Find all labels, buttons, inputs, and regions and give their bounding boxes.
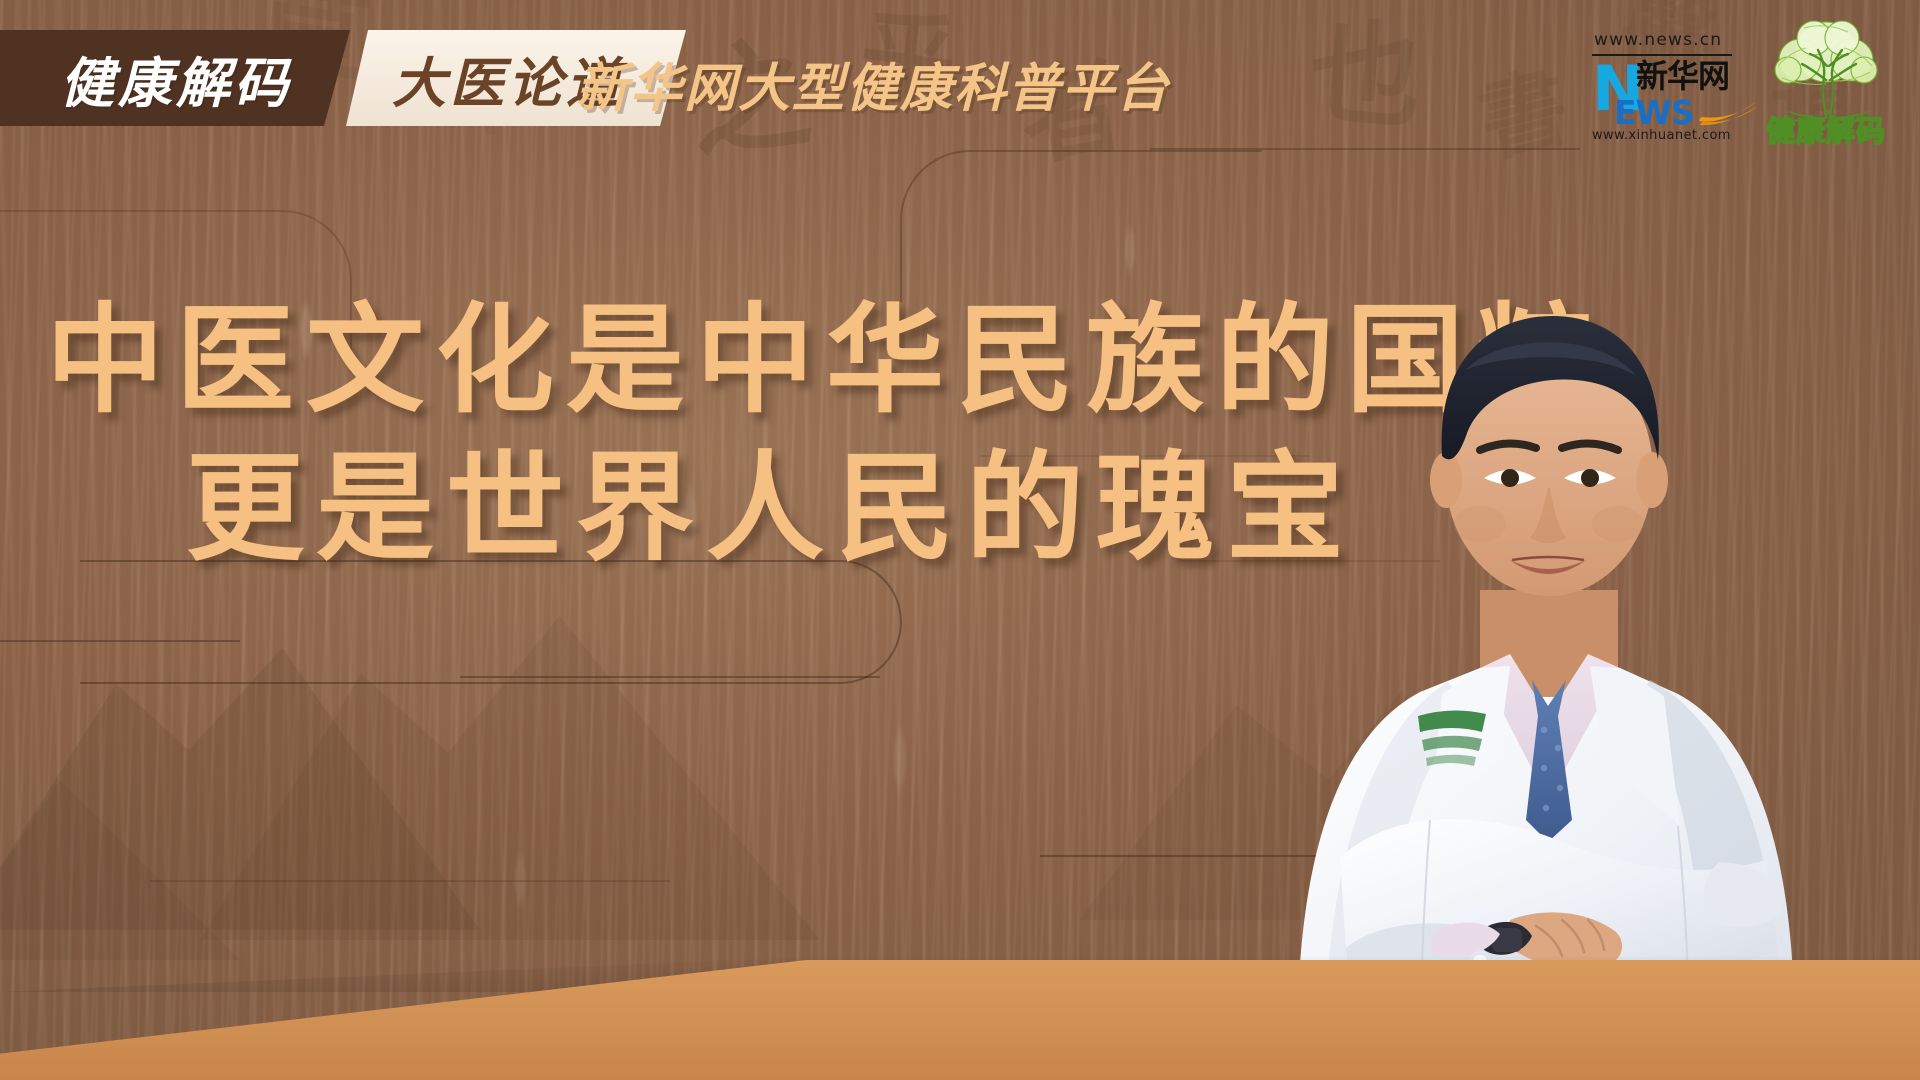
main-title: 中医文化是中华民族的国粹 更是世界人民的瑰宝 [0,286,1180,582]
title-line-2: 更是世界人民的瑰宝 [0,434,1180,582]
xinhua-url-top: www.news.cn [1594,30,1722,50]
xinhua-name-cn: 新华网 [1636,60,1729,92]
program-tagline: 新华网大型健康科普平台 [576,46,1170,121]
brand-primary-tag: 健康解码 [0,30,350,126]
decorative-line [460,676,880,678]
doctor-portrait [1180,120,1920,1080]
title-card: 之 乎 者 也 書 醫 道 草 本 健康解码 大医论道 新华网大型健康科普平台 … [0,0,1920,1080]
brand-primary-label: 健康解码 [60,39,292,118]
title-line-1: 中医文化是中华民族的国粹 [0,286,1180,434]
tree-icon [1752,18,1900,122]
decorative-line [150,880,670,882]
